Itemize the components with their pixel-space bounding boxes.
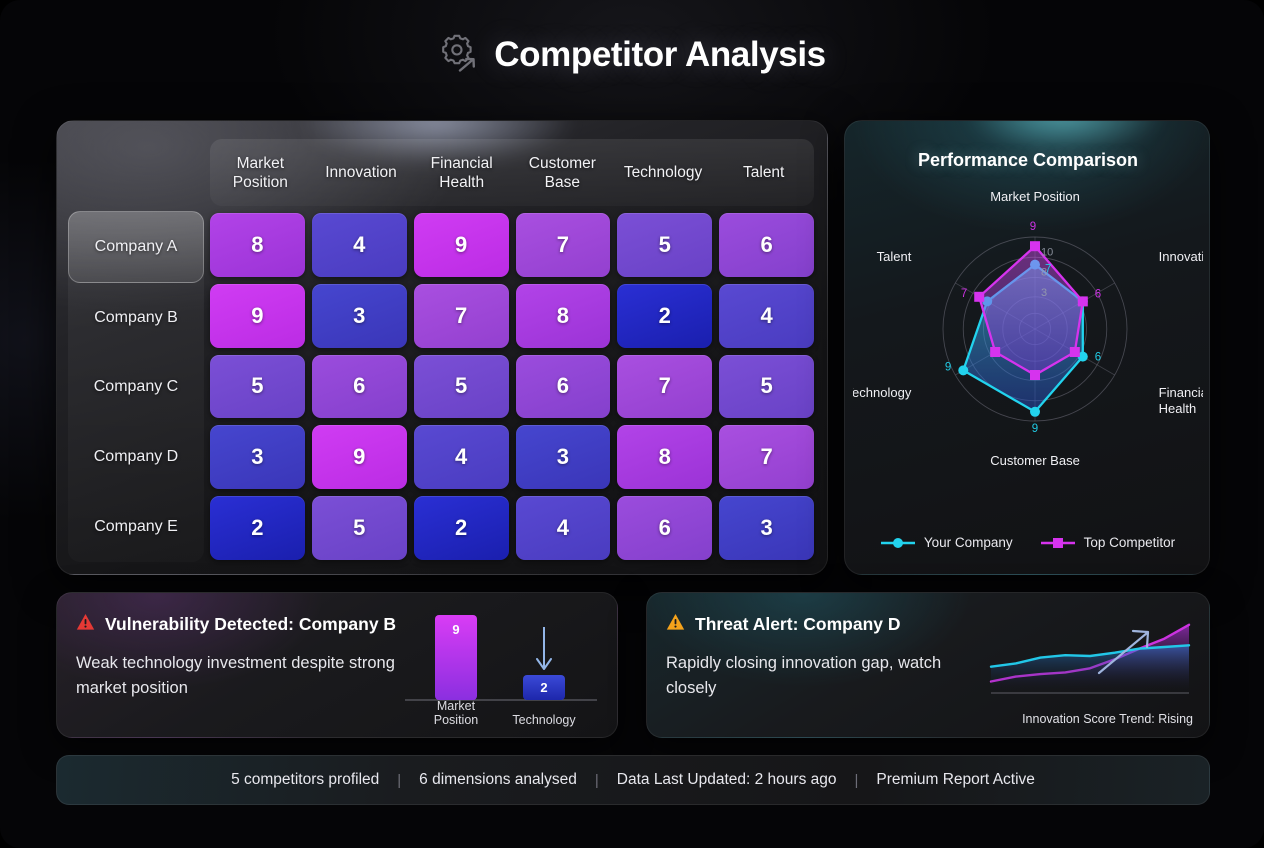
row-label-4[interactable]: Company E xyxy=(68,492,204,562)
column-header-4[interactable]: Technology xyxy=(613,139,714,206)
radar-axis-label-1: Innovation xyxy=(1159,249,1203,264)
radar-axis-label-3: Customer Base xyxy=(990,453,1080,468)
matrix-column-headers: Market PositionInnovationFinancial Healt… xyxy=(210,139,814,206)
matrix-cell-r1-c2[interactable]: 7 xyxy=(414,284,509,348)
matrix-cell-r4-c0[interactable]: 2 xyxy=(210,496,305,560)
svg-text:10: 10 xyxy=(1041,246,1053,258)
matrix-cell-r2-c4[interactable]: 7 xyxy=(617,355,712,419)
alert-description: Rapidly closing innovation gap, watch cl… xyxy=(666,651,996,701)
footer-item-0: 5 competitors profiled xyxy=(213,771,397,789)
matrix-cell-r3-c0[interactable]: 3 xyxy=(210,425,305,489)
warning-triangle-red-icon xyxy=(76,613,95,636)
matrix-cell-r2-c3[interactable]: 6 xyxy=(516,355,611,419)
svg-text:9: 9 xyxy=(1030,221,1036,233)
alert-title: Threat Alert: Company D xyxy=(695,614,901,635)
page-header: Competitor Analysis xyxy=(0,34,1264,76)
matrix-cell-r0-c3[interactable]: 7 xyxy=(516,213,611,277)
bar-value-technology: 2 xyxy=(540,680,547,695)
matrix-cell-r3-c5[interactable]: 7 xyxy=(719,425,814,489)
matrix-cell-r3-c3[interactable]: 3 xyxy=(516,425,611,489)
svg-text:9: 9 xyxy=(1032,423,1038,435)
row-label-2[interactable]: Company C xyxy=(68,353,204,423)
innovation-trend-chart xyxy=(987,611,1193,711)
radar-legend: Your CompanyTop Competitor xyxy=(845,535,1210,550)
radar-chart-title: Performance Comparison xyxy=(845,150,1210,171)
warning-triangle-orange-icon xyxy=(666,613,685,636)
legend-label-0: Your Company xyxy=(924,535,1013,550)
matrix-cell-r1-c0[interactable]: 9 xyxy=(210,284,305,348)
bar-label-market-position: Market Position xyxy=(415,699,497,727)
footer-item-2: Data Last Updated: 2 hours ago xyxy=(599,771,855,789)
page-title: Competitor Analysis xyxy=(494,35,825,75)
matrix-cell-r2-c2[interactable]: 5 xyxy=(414,355,509,419)
matrix-row-labels: Company ACompany BCompany CCompany DComp… xyxy=(68,211,204,562)
matrix-cell-r2-c1[interactable]: 6 xyxy=(312,355,407,419)
svg-text:7: 7 xyxy=(961,288,967,300)
status-footer: 5 competitors profiled|6 dimensions anal… xyxy=(56,755,1210,805)
matrix-cell-r1-c5[interactable]: 4 xyxy=(719,284,814,348)
column-header-1[interactable]: Innovation xyxy=(311,139,412,206)
row-label-3[interactable]: Company D xyxy=(68,422,204,492)
row-label-0[interactable]: Company A xyxy=(68,211,204,283)
matrix-cell-r0-c0[interactable]: 8 xyxy=(210,213,305,277)
svg-text:3: 3 xyxy=(1041,287,1047,299)
bar-value-market-position: 9 xyxy=(452,622,459,637)
matrix-cell-r0-c1[interactable]: 4 xyxy=(312,213,407,277)
bar-label-technology: Technology xyxy=(503,713,585,727)
column-header-5[interactable]: Talent xyxy=(713,139,814,206)
radar-axis-label-2: FinancialHealth xyxy=(1159,385,1203,416)
legend-swatch-1 xyxy=(1041,537,1075,549)
matrix-cell-r3-c2[interactable]: 4 xyxy=(414,425,509,489)
matrix-cell-r2-c0[interactable]: 5 xyxy=(210,355,305,419)
alert-heading: Vulnerability Detected: Company B xyxy=(76,613,396,636)
legend-item-0[interactable]: Your Company xyxy=(881,535,1013,550)
matrix-cell-r4-c4[interactable]: 6 xyxy=(617,496,712,560)
alert-heading: Threat Alert: Company D xyxy=(666,613,901,636)
threat-alert-card[interactable]: Threat Alert: Company D Rapidly closing … xyxy=(646,592,1210,738)
matrix-cell-r0-c4[interactable]: 5 xyxy=(617,213,712,277)
column-header-0[interactable]: Market Position xyxy=(210,139,311,206)
matrix-cell-r2-c5[interactable]: 5 xyxy=(719,355,814,419)
matrix-cell-r4-c2[interactable]: 2 xyxy=(414,496,509,560)
alert-description: Weak technology investment despite stron… xyxy=(76,651,406,701)
alert-title: Vulnerability Detected: Company B xyxy=(105,614,396,635)
performance-comparison-panel: Performance Comparison 10839766997Market… xyxy=(844,120,1210,575)
svg-text:6: 6 xyxy=(1095,352,1101,364)
legend-label-1: Top Competitor xyxy=(1084,535,1176,550)
footer-item-3: Premium Report Active xyxy=(858,771,1053,789)
matrix-grid: 849756937824565675394387252463 xyxy=(210,213,814,560)
matrix-cell-r4-c3[interactable]: 4 xyxy=(516,496,611,560)
matrix-cell-r0-c5[interactable]: 6 xyxy=(719,213,814,277)
column-header-2[interactable]: Financial Health xyxy=(411,139,512,206)
matrix-cell-r1-c3[interactable]: 8 xyxy=(516,284,611,348)
svg-text:9: 9 xyxy=(945,361,951,373)
matrix-cell-r4-c1[interactable]: 5 xyxy=(312,496,407,560)
settings-trend-icon xyxy=(438,34,478,76)
svg-text:6: 6 xyxy=(1095,288,1101,300)
matrix-cell-r0-c2[interactable]: 9 xyxy=(414,213,509,277)
column-header-3[interactable]: Customer Base xyxy=(512,139,613,206)
matrix-cell-r3-c1[interactable]: 9 xyxy=(312,425,407,489)
radar-axis-label-4: Technology xyxy=(853,385,912,400)
legend-item-1[interactable]: Top Competitor xyxy=(1041,535,1176,550)
mini-bar-chart: 9 2 Market Position Technology xyxy=(403,609,599,727)
dashboard-root: Competitor Analysis Market PositionInnov… xyxy=(0,0,1264,848)
matrix-cell-r1-c1[interactable]: 3 xyxy=(312,284,407,348)
footer-item-1: 6 dimensions analysed xyxy=(401,771,595,789)
row-label-1[interactable]: Company B xyxy=(68,283,204,353)
matrix-cell-r4-c5[interactable]: 3 xyxy=(719,496,814,560)
matrix-cell-r3-c4[interactable]: 8 xyxy=(617,425,712,489)
matrix-cell-r1-c4[interactable]: 2 xyxy=(617,284,712,348)
radar-chart: 10839766997Market PositionInnovationFina… xyxy=(853,183,1203,513)
svg-text:7: 7 xyxy=(1045,264,1051,276)
competitor-matrix-panel: Market PositionInnovationFinancial Healt… xyxy=(56,120,828,575)
radar-axis-label-5: Talent xyxy=(877,249,912,264)
vulnerability-alert-card[interactable]: Vulnerability Detected: Company B Weak t… xyxy=(56,592,618,738)
trend-caption: Innovation Score Trend: Rising xyxy=(1022,712,1193,726)
radar-axis-label-0: Market Position xyxy=(990,189,1080,204)
legend-swatch-0 xyxy=(881,537,915,549)
